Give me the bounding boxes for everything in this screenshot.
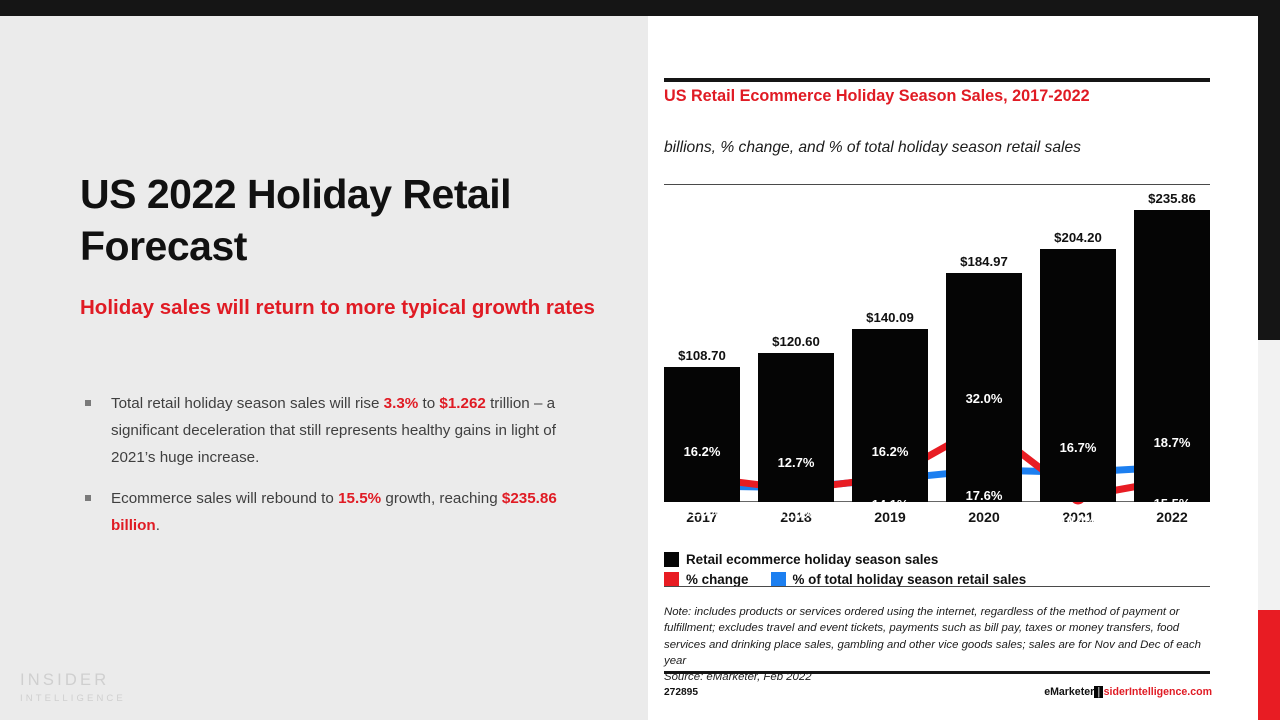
- chart-id: 272895: [664, 687, 698, 698]
- chart-bar-value-label: $108.70: [650, 348, 754, 363]
- pct-total-point-label: 18.7%: [1126, 435, 1218, 450]
- list-item: Total retail holiday season sales will r…: [82, 390, 602, 471]
- chart-x-axis-tick: 2022: [1124, 510, 1220, 526]
- legend-row-1: Retail ecommerce holiday season sales: [664, 552, 1212, 567]
- slide-left-panel: US 2022 Holiday Retail Forecast Holiday …: [0, 16, 648, 720]
- footer-brand-left: eMarketer: [1044, 686, 1094, 698]
- chart-bar-value-label: $120.60: [744, 334, 848, 349]
- pct-total-point-label: 11.6%: [656, 504, 748, 519]
- bullet-square-icon: [85, 400, 91, 406]
- list-item: Ecommerce sales will rebound to 15.5% gr…: [82, 485, 602, 539]
- top-decor-band: [0, 0, 1280, 16]
- footer-brand-right[interactable]: InsiderIntelligence.com: [1094, 686, 1212, 698]
- chart-bar-value-label: $184.97: [932, 254, 1036, 269]
- pct-total-point-label: 14.1%: [844, 497, 936, 512]
- legend-swatch-pct-total: [771, 572, 786, 587]
- pct-change-point-label: 32.0%: [938, 391, 1030, 406]
- chart-x-axis-tick: 2020: [936, 510, 1032, 526]
- footer-divider: |: [1094, 686, 1103, 698]
- pct-total-point-label: 11.0%: [750, 506, 842, 521]
- pct-change-point-label: 10.4%: [1032, 513, 1124, 528]
- pct-change-point-label: 15.5%: [1126, 496, 1218, 511]
- logo-line-1: INSIDER: [20, 671, 126, 690]
- chart-footer: 272895 eMarketer|InsiderIntelligence.com: [664, 686, 1212, 698]
- chart-bar: [664, 367, 740, 502]
- chart-subtitle: billions, % change, and % of total holid…: [664, 138, 1212, 159]
- chart-bar: [946, 273, 1022, 502]
- right-edge-gray-bar: [1258, 340, 1280, 610]
- right-edge-black-bar: [1258, 16, 1280, 340]
- chart-rule-above-note: [664, 586, 1210, 587]
- pct-change-point-label: 16.2%: [844, 444, 936, 459]
- chart-bar-value-label: $204.20: [1026, 230, 1130, 245]
- pct-change-point-label: 16.2%: [656, 444, 748, 459]
- chart-panel: US Retail Ecommerce Holiday Season Sales…: [648, 16, 1258, 720]
- chart-x-axis-tick: 2019: [842, 510, 938, 526]
- legend-label-pct-change: % change: [686, 572, 749, 587]
- bullet-list: Total retail holiday season sales will r…: [82, 390, 602, 553]
- slide-subheadline: Holiday sales will return to more typica…: [80, 294, 600, 323]
- chart-rule-bottom: [664, 671, 1210, 674]
- chart-rule-top: [664, 78, 1210, 82]
- bullet-square-icon: [85, 495, 91, 501]
- chart-plot-area: $108.702017$120.602018$140.092019$184.97…: [664, 192, 1210, 516]
- right-edge-red-bar: [1258, 610, 1280, 720]
- chart-bar-value-label: $235.86: [1120, 191, 1224, 206]
- legend-label-pct-total: % of total holiday season retail sales: [793, 572, 1027, 587]
- bullet-text: Total retail holiday season sales will r…: [111, 395, 556, 466]
- page-title: US 2022 Holiday Retail Forecast: [80, 168, 600, 273]
- chart-rule-under-subtitle: [664, 184, 1210, 185]
- footer-branding: eMarketer|InsiderIntelligence.com: [1044, 686, 1212, 698]
- legend-label-bars: Retail ecommerce holiday season sales: [686, 552, 938, 567]
- legend-swatch-bars: [664, 552, 679, 567]
- chart-bar: [758, 353, 834, 502]
- chart-title: US Retail Ecommerce Holiday Season Sales…: [664, 86, 1212, 107]
- pct-change-point-label: 12.7%: [750, 455, 842, 470]
- chart-bar: [1134, 210, 1210, 502]
- chart-bar: [1040, 249, 1116, 502]
- bullet-text: Ecommerce sales will rebound to 15.5% gr…: [111, 490, 557, 534]
- note-text: Note: includes products or services orde…: [664, 606, 1201, 667]
- logo-line-2: INTELLIGENCE: [20, 693, 126, 704]
- pct-total-point-label: 16.7%: [1032, 440, 1124, 455]
- chart-bar-value-label: $140.09: [838, 310, 942, 325]
- insider-intelligence-logo: INSIDER INTELLIGENCE: [20, 671, 126, 704]
- legend-swatch-pct-change: [664, 572, 679, 587]
- chart-bar: [852, 329, 928, 502]
- legend-row-2: % change % of total holiday season retai…: [664, 572, 1212, 587]
- pct-total-point-label: 17.6%: [938, 488, 1030, 503]
